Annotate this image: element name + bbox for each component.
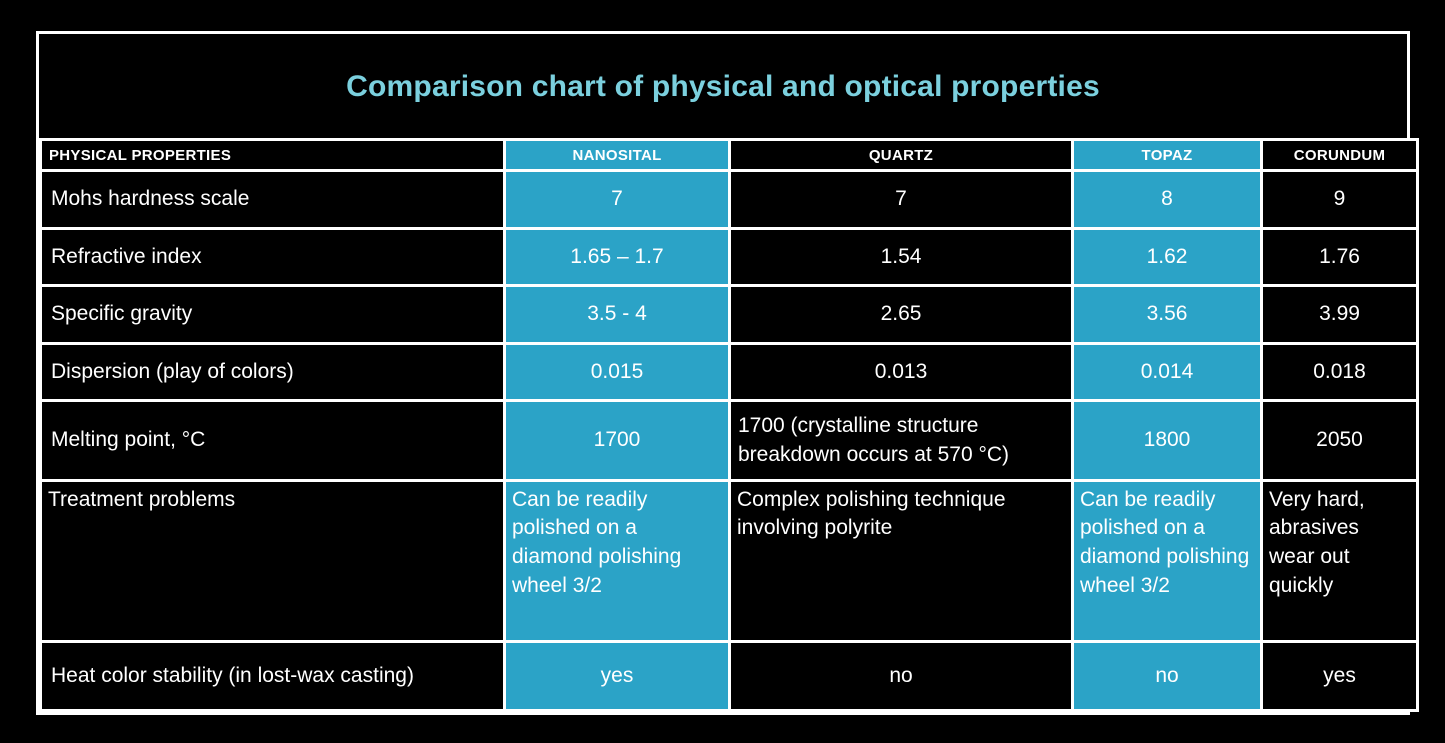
comparison-chart-page: Comparison chart of physical and optical… <box>0 0 1445 743</box>
cell-corundum: yes <box>1263 643 1416 709</box>
cell-topaz: Can be readily polished on a diamond pol… <box>1074 482 1260 640</box>
cell-value: Can be readily polished on a diamond pol… <box>506 482 728 640</box>
cell-value: 0.018 <box>1263 345 1416 399</box>
page-title: Comparison chart of physical and optical… <box>346 70 1100 103</box>
column-header-topaz: TOPAZ <box>1074 141 1260 169</box>
cell-value: 0.014 <box>1074 345 1260 399</box>
cell-corundum: 0.018 <box>1263 345 1416 399</box>
table-row: Specific gravity 3.5 - 4 2.65 3.56 3.99 <box>42 287 1416 341</box>
table-row: Treatment problems Can be readily polish… <box>42 482 1416 640</box>
row-label-cell: Melting point, °C <box>42 402 503 479</box>
cell-nanosital: 7 <box>506 172 728 226</box>
column-header-corundum-label: CORUNDUM <box>1263 141 1416 169</box>
cell-topaz: 1.62 <box>1074 230 1260 284</box>
row-label: Dispersion (play of colors) <box>42 345 503 399</box>
cell-value: 7 <box>731 172 1071 226</box>
column-header-quartz: QUARTZ <box>731 141 1071 169</box>
cell-value: Can be readily polished on a diamond pol… <box>1074 482 1260 640</box>
cell-value: 1700 (crystalline structure breakdown oc… <box>731 402 1071 479</box>
title-band: Comparison chart of physical and optical… <box>39 34 1407 138</box>
cell-value: 1.54 <box>731 230 1071 284</box>
cell-value: 1.65 – 1.7 <box>506 230 728 284</box>
cell-value: Complex polishing technique involving po… <box>731 482 1071 640</box>
cell-value: 9 <box>1263 172 1416 226</box>
table-row: Dispersion (play of colors) 0.015 0.013 … <box>42 345 1416 399</box>
column-header-property-label: PHYSICAL PROPERTIES <box>42 141 503 169</box>
cell-value: no <box>1074 643 1260 709</box>
cell-nanosital: 1700 <box>506 402 728 479</box>
cell-quartz: Complex polishing technique involving po… <box>731 482 1071 640</box>
table-row: Refractive index 1.65 – 1.7 1.54 1.62 1.… <box>42 230 1416 284</box>
cell-corundum: Very hard, abrasives wear out quickly <box>1263 482 1416 640</box>
cell-value: 0.015 <box>506 345 728 399</box>
cell-nanosital: yes <box>506 643 728 709</box>
row-label-cell: Treatment problems <box>42 482 503 640</box>
row-label-cell: Heat color stability (in lost-wax castin… <box>42 643 503 709</box>
cell-value: 1700 <box>506 402 728 479</box>
row-label: Melting point, °C <box>42 402 503 479</box>
cell-topaz: 0.014 <box>1074 345 1260 399</box>
cell-quartz: 2.65 <box>731 287 1071 341</box>
cell-quartz: no <box>731 643 1071 709</box>
cell-nanosital: Can be readily polished on a diamond pol… <box>506 482 728 640</box>
cell-quartz: 1700 (crystalline structure breakdown oc… <box>731 402 1071 479</box>
table-header-row: PHYSICAL PROPERTIES NANOSITAL QUARTZ TOP… <box>42 141 1416 169</box>
column-header-topaz-label: TOPAZ <box>1074 141 1260 169</box>
column-header-nanosital-label: NANOSITAL <box>506 141 728 169</box>
cell-corundum: 2050 <box>1263 402 1416 479</box>
table-row: Heat color stability (in lost-wax castin… <box>42 643 1416 709</box>
row-label-cell: Specific gravity <box>42 287 503 341</box>
cell-topaz: 3.56 <box>1074 287 1260 341</box>
cell-value: 3.99 <box>1263 287 1416 341</box>
cell-value: 8 <box>1074 172 1260 226</box>
cell-value: 3.5 - 4 <box>506 287 728 341</box>
cell-corundum: 9 <box>1263 172 1416 226</box>
cell-value: yes <box>1263 643 1416 709</box>
cell-value: 0.013 <box>731 345 1071 399</box>
cell-topaz: 1800 <box>1074 402 1260 479</box>
column-header-property: PHYSICAL PROPERTIES <box>42 141 503 169</box>
comparison-table: PHYSICAL PROPERTIES NANOSITAL QUARTZ TOP… <box>39 138 1419 712</box>
cell-value: 7 <box>506 172 728 226</box>
cell-nanosital: 1.65 – 1.7 <box>506 230 728 284</box>
cell-quartz: 1.54 <box>731 230 1071 284</box>
cell-nanosital: 3.5 - 4 <box>506 287 728 341</box>
cell-value: 1.76 <box>1263 230 1416 284</box>
cell-value: 3.56 <box>1074 287 1260 341</box>
cell-value: 2050 <box>1263 402 1416 479</box>
row-label: Treatment problems <box>42 482 503 640</box>
cell-value: yes <box>506 643 728 709</box>
row-label-cell: Dispersion (play of colors) <box>42 345 503 399</box>
cell-corundum: 3.99 <box>1263 287 1416 341</box>
cell-topaz: 8 <box>1074 172 1260 226</box>
cell-corundum: 1.76 <box>1263 230 1416 284</box>
cell-value: no <box>731 643 1071 709</box>
column-header-nanosital: NANOSITAL <box>506 141 728 169</box>
column-header-corundum: CORUNDUM <box>1263 141 1416 169</box>
table-row: Melting point, °C 1700 1700 (crystalline… <box>42 402 1416 479</box>
table-frame: Comparison chart of physical and optical… <box>36 31 1410 715</box>
table-row: Mohs hardness scale 7 7 8 9 <box>42 172 1416 226</box>
row-label: Heat color stability (in lost-wax castin… <box>42 643 503 709</box>
cell-value: 1.62 <box>1074 230 1260 284</box>
cell-value: 2.65 <box>731 287 1071 341</box>
cell-topaz: no <box>1074 643 1260 709</box>
cell-value: Very hard, abrasives wear out quickly <box>1263 482 1416 640</box>
row-label: Mohs hardness scale <box>42 172 503 226</box>
row-label-cell: Refractive index <box>42 230 503 284</box>
row-label: Refractive index <box>42 230 503 284</box>
column-header-quartz-label: QUARTZ <box>731 141 1071 169</box>
row-label-cell: Mohs hardness scale <box>42 172 503 226</box>
cell-quartz: 7 <box>731 172 1071 226</box>
cell-nanosital: 0.015 <box>506 345 728 399</box>
row-label: Specific gravity <box>42 287 503 341</box>
cell-quartz: 0.013 <box>731 345 1071 399</box>
cell-value: 1800 <box>1074 402 1260 479</box>
